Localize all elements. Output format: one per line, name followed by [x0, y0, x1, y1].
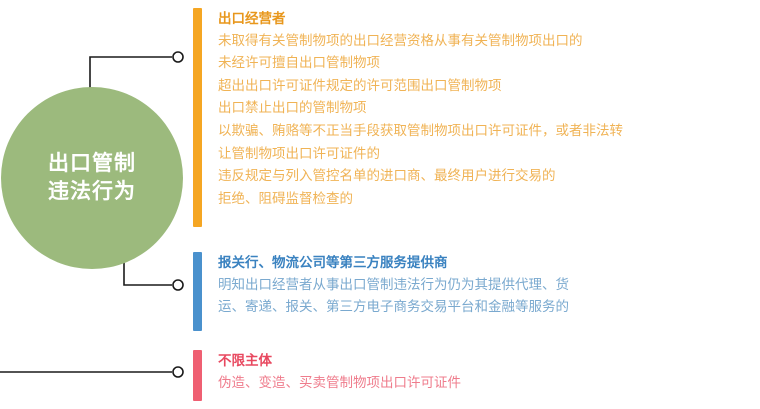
- branch-item: 违反规定与列入管控名单的进口商、最终用户进行交易的: [218, 165, 623, 188]
- branch-item: 让管制物项出口许可证件的: [218, 143, 623, 166]
- branch-body-exporter: 出口经营者 未取得有关管制物项的出口经营资格从事有关管制物项出口的 未经许可擅自…: [202, 8, 623, 227]
- diagram-canvas: 出口管制 违法行为 出口经营者 未取得有关管制物项的出口经营资格从事有关管制物项…: [0, 0, 760, 409]
- root-label-line-1: 出口管制: [48, 150, 136, 178]
- branch-item: 未经许可擅自出口管制物项: [218, 52, 623, 75]
- branch-title-thirdparty: 报关行、物流公司等第三方服务提供商: [218, 252, 569, 274]
- branch-item: 运、寄递、报关、第三方电子商务交易平台和金融等服务的: [218, 296, 569, 319]
- branch-thirdparty: 报关行、物流公司等第三方服务提供商 明知出口经营者从事出口管制违法行为仍为其提供…: [193, 252, 569, 331]
- branch-item: 出口禁止出口的管制物项: [218, 97, 623, 120]
- branch-item: 明知出口经营者从事出口管制违法行为仍为其提供代理、货: [218, 274, 569, 297]
- branch-any: 不限主体 伪造、变造、买卖管制物项出口许可证件: [193, 350, 461, 401]
- branch-item: 拒绝、阻碍监督检查的: [218, 188, 623, 211]
- branch-item: 伪造、变造、买卖管制物项出口许可证件: [218, 372, 461, 395]
- branch-title-exporter: 出口经营者: [218, 8, 623, 30]
- connector-endpoint-thirdparty: [173, 280, 183, 290]
- connector-endpoint-any: [173, 367, 183, 377]
- branch-bar-thirdparty: [193, 252, 202, 331]
- branch-item: 未取得有关管制物项的出口经营资格从事有关管制物项出口的: [218, 30, 623, 53]
- branch-title-any: 不限主体: [218, 350, 461, 372]
- branch-exporter: 出口经营者 未取得有关管制物项的出口经营资格从事有关管制物项出口的 未经许可擅自…: [193, 8, 623, 227]
- branch-bar-exporter: [193, 8, 202, 227]
- branch-item: 超出出口许可证件规定的许可范围出口管制物项: [218, 75, 623, 98]
- branch-item: 以欺骗、贿赂等不正当手段获取管制物项出口许可证件，或者非法转: [218, 120, 623, 143]
- branch-bar-any: [193, 350, 202, 401]
- branch-body-thirdparty: 报关行、物流公司等第三方服务提供商 明知出口经营者从事出口管制违法行为仍为其提供…: [202, 252, 569, 331]
- connector-endpoint-exporter: [173, 52, 183, 62]
- root-label-line-2: 违法行为: [48, 178, 136, 206]
- branch-body-any: 不限主体 伪造、变造、买卖管制物项出口许可证件: [202, 350, 461, 401]
- root-node: 出口管制 违法行为: [1, 87, 183, 269]
